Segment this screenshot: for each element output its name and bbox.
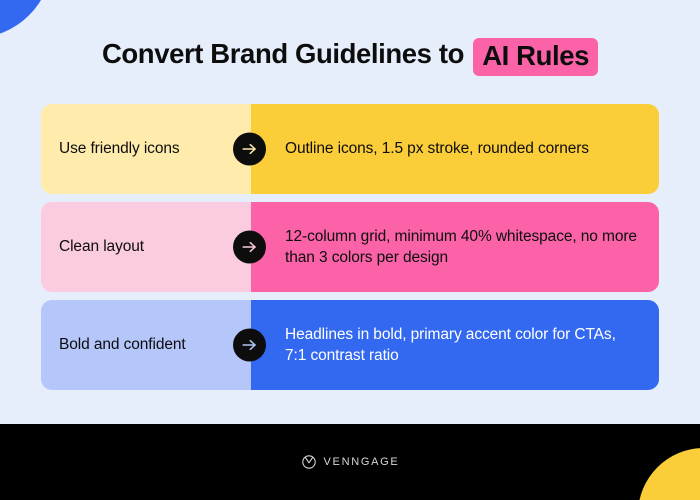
list-item: Use friendly icons Outline icons, 1.5 px… — [41, 104, 659, 194]
rule-description: 12-column grid, minimum 40% whitespace, … — [285, 226, 641, 269]
blue-quarter-circle-decoration — [0, 0, 52, 38]
rule-label: Clean layout — [59, 237, 144, 257]
arrow-right-icon — [233, 231, 266, 264]
list-item: Clean layout 12-column grid, minimum 40%… — [41, 202, 659, 292]
page-title-wrap: Convert Brand Guidelines to AI Rules — [0, 36, 700, 74]
brand-name: VENNGAGE — [324, 456, 400, 468]
rule-label: Bold and confident — [59, 335, 186, 355]
rule-label: Use friendly icons — [59, 139, 180, 159]
venngage-circle-logo-icon — [301, 454, 317, 470]
rule-description: Outline icons, 1.5 px stroke, rounded co… — [285, 138, 589, 159]
infographic-canvas: Convert Brand Guidelines to AI Rules Use… — [0, 0, 700, 500]
page-title-prefix: Convert Brand Guidelines to — [102, 38, 471, 69]
list-item: Bold and confident Headlines in bold, pr… — [41, 300, 659, 390]
arrow-right-icon — [233, 329, 266, 362]
page-title: Convert Brand Guidelines to AI Rules — [102, 36, 598, 74]
rule-description-panel: Outline icons, 1.5 px stroke, rounded co… — [251, 104, 659, 194]
rule-label-panel: Use friendly icons — [41, 104, 251, 194]
rule-label-panel: Bold and confident — [41, 300, 251, 390]
brand-lockup: VENNGAGE — [0, 424, 700, 500]
rule-description-panel: Headlines in bold, primary accent color … — [251, 300, 659, 390]
rule-description: Headlines in bold, primary accent color … — [285, 324, 641, 367]
rule-description-panel: 12-column grid, minimum 40% whitespace, … — [251, 202, 659, 292]
rules-list: Use friendly icons Outline icons, 1.5 px… — [41, 104, 659, 398]
page-title-highlight: AI Rules — [473, 38, 598, 76]
arrow-right-icon — [233, 133, 266, 166]
footer: VENNGAGE — [0, 424, 700, 500]
rule-label-panel: Clean layout — [41, 202, 251, 292]
